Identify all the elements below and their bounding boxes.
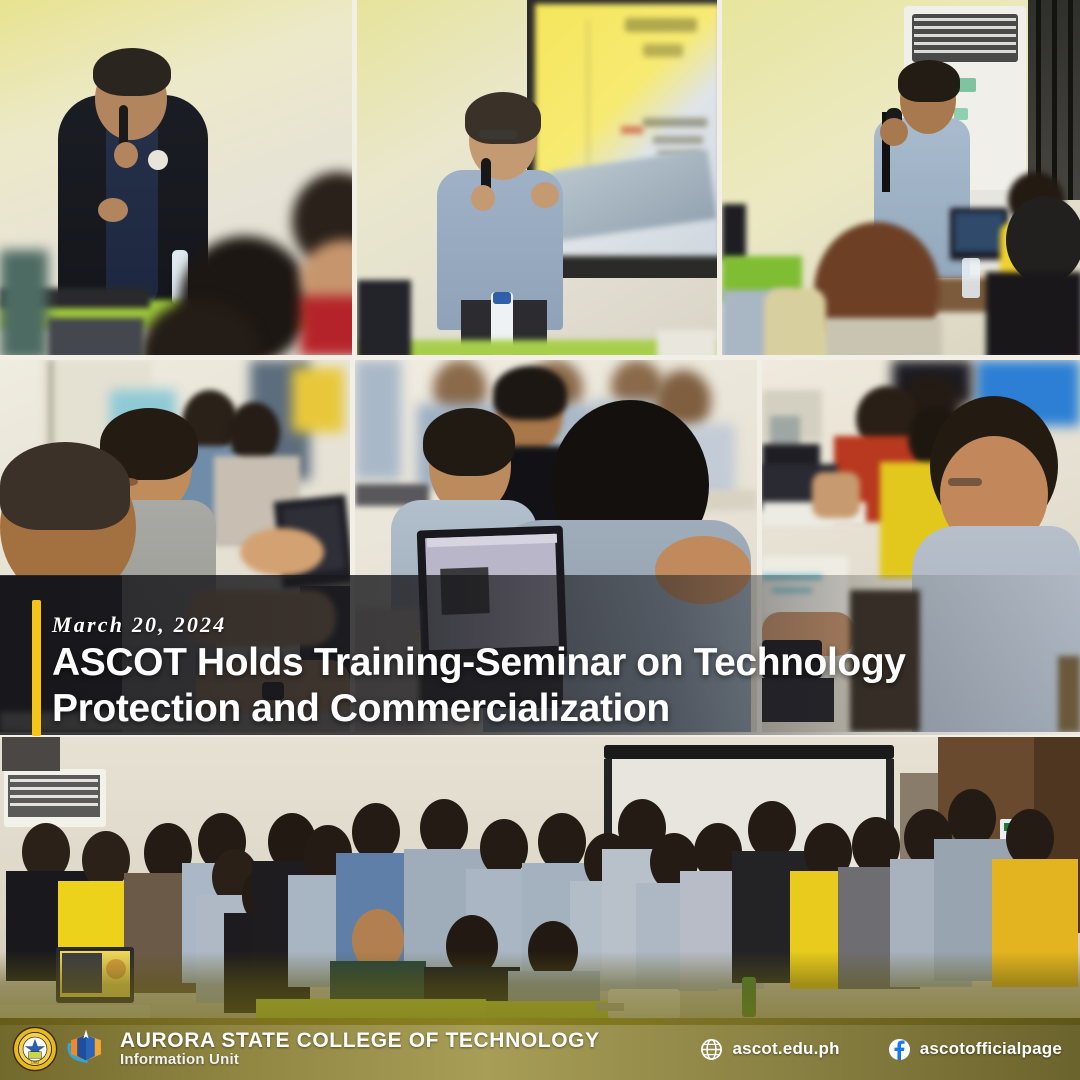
organization-name: AURORA STATE COLLEGE OF TECHNOLOGY [120,1030,600,1052]
headline-block: March 20, 2024 ASCOT Holds Training-Semi… [52,612,952,732]
footer-bar: 1983 AURORA STATE COLLEGE OF TECHNOLOGY … [0,1018,1080,1080]
page-title: ASCOT Holds Training-Seminar on Technolo… [52,640,912,732]
facebook-contact[interactable]: ascotofficialpage [888,1038,1062,1061]
photo-speaker-black-jacket [0,0,352,355]
ascot-seal-icon: 1983 [12,1026,58,1072]
globe-icon [700,1038,723,1061]
facebook-label: ascotofficialpage [920,1039,1062,1059]
information-unit-logo-icon [64,1027,108,1071]
photo-man-blue-shirt-mic [722,0,1080,355]
organization-subunit: Information Unit [120,1052,600,1068]
website-label: ascot.edu.ph [732,1039,839,1059]
date-kicker: March 20, 2024 [52,612,952,638]
poster-canvas: March 20, 2024 ASCOT Holds Training-Semi… [0,0,1080,1080]
facebook-icon [888,1038,911,1061]
collage-row-bottom [0,737,1080,1025]
accent-bar [32,600,41,736]
organization-block: AURORA STATE COLLEGE OF TECHNOLOGY Infor… [120,1030,600,1068]
svg-text:1983: 1983 [31,1061,39,1065]
website-contact[interactable]: ascot.edu.ph [700,1038,839,1061]
collage-row-top [0,0,1080,355]
photo-woman-presenter-screen [357,0,717,355]
photo-group-photo [0,737,1080,1025]
